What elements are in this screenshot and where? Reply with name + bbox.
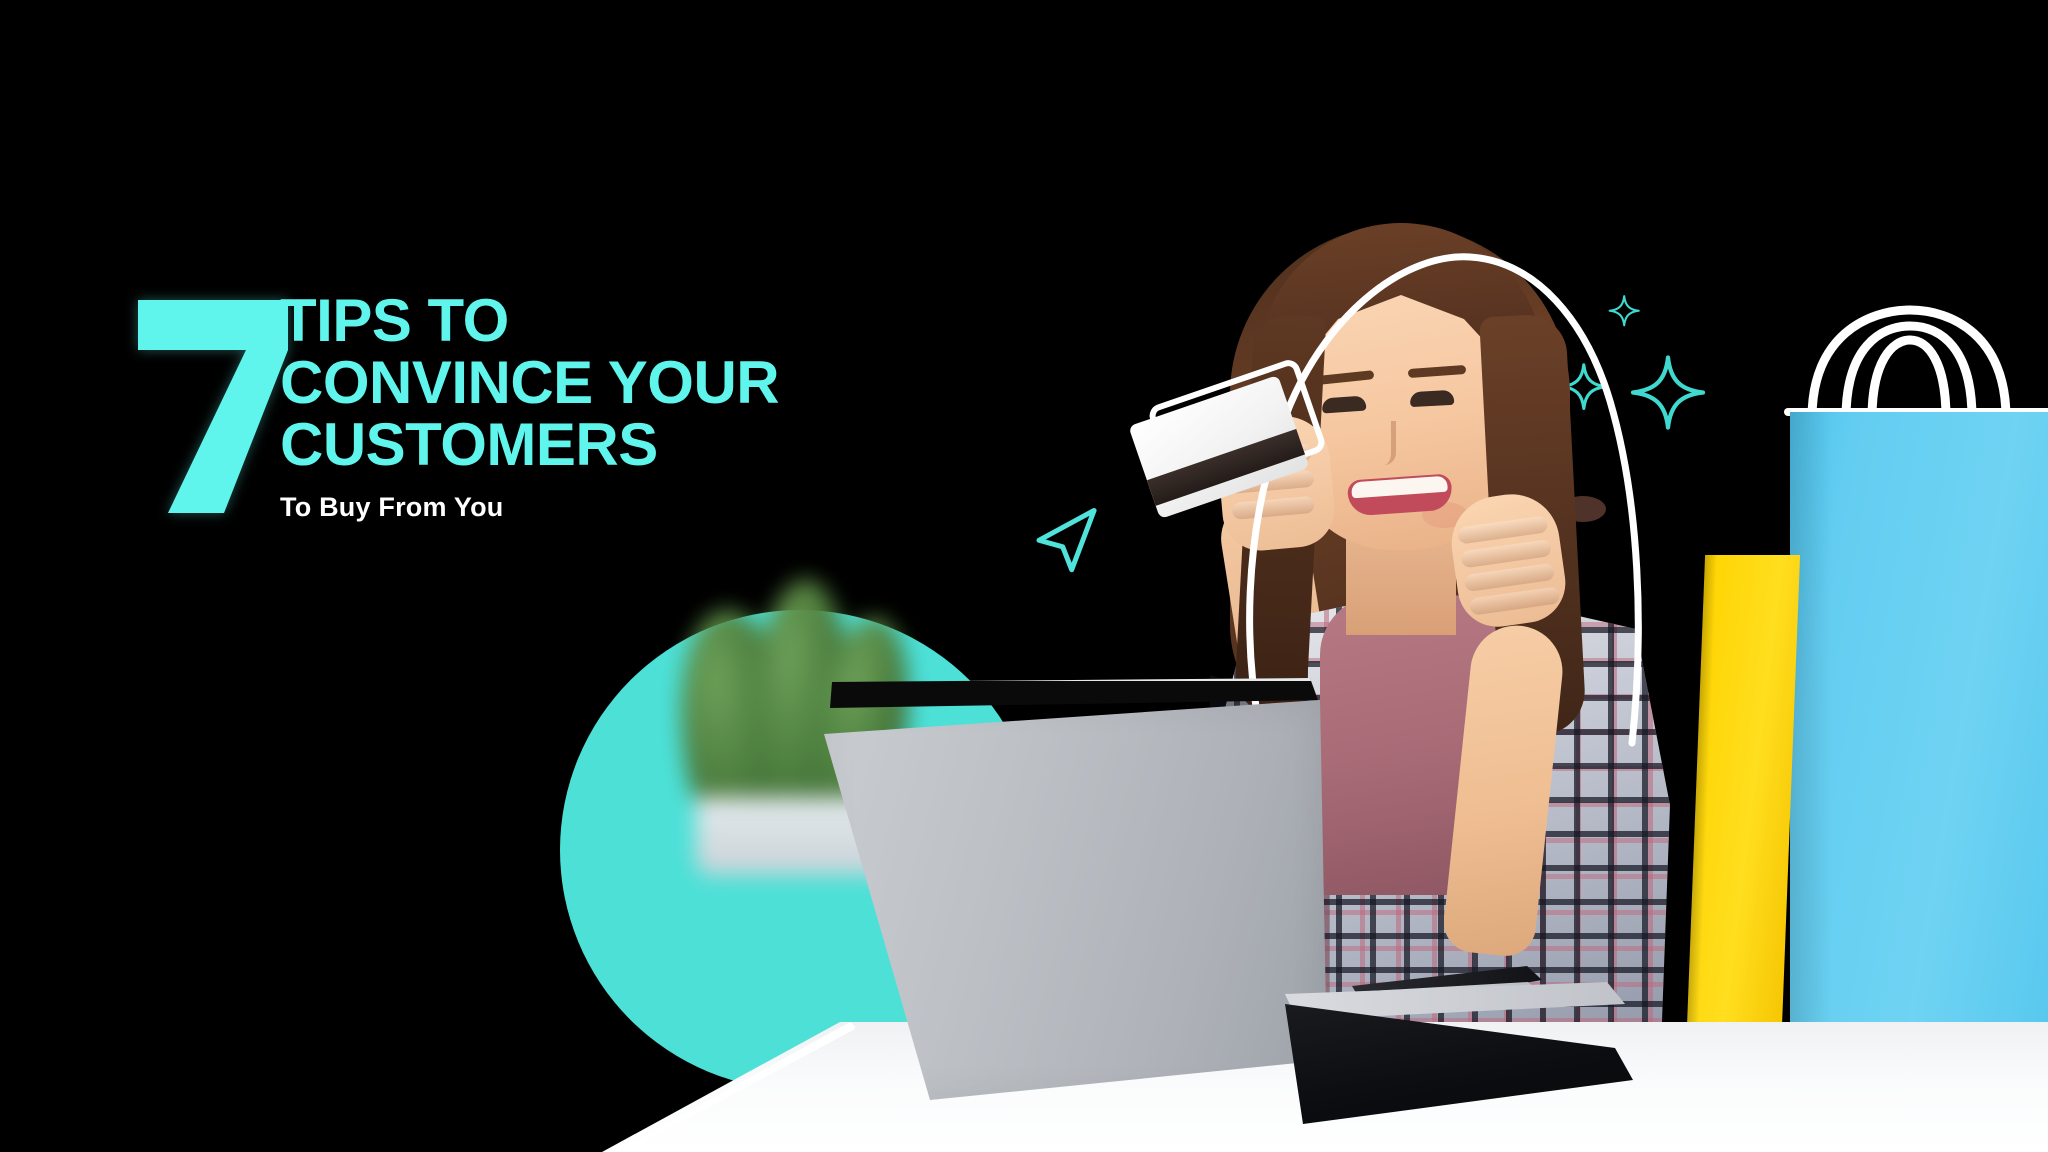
cursor-arrow-icon: [1035, 498, 1110, 573]
headline-subtitle: To Buy From You: [280, 490, 940, 524]
headline-line-3: CUSTOMERS: [280, 414, 940, 476]
headline-block: 7 TIPS TO CONVINCE YOUR CUSTOMERS To Buy…: [140, 280, 940, 540]
headline-line-1: TIPS TO: [280, 290, 940, 352]
promo-banner: 7 TIPS TO CONVINCE YOUR CUSTOMERS To Buy…: [0, 0, 2048, 1152]
headline-line-2: CONVINCE YOUR: [280, 352, 940, 414]
credit-card-magnetic-stripe: [1147, 429, 1305, 506]
headline-number: 7: [140, 280, 300, 510]
credit-card-face: [1128, 375, 1309, 519]
bag-shadow: [1790, 412, 1832, 1057]
credit-card: [1140, 380, 1330, 540]
headline-text: TIPS TO CONVINCE YOUR CUSTOMERS To Buy F…: [280, 290, 940, 524]
shopping-bag-blue: [1760, 290, 2048, 1080]
